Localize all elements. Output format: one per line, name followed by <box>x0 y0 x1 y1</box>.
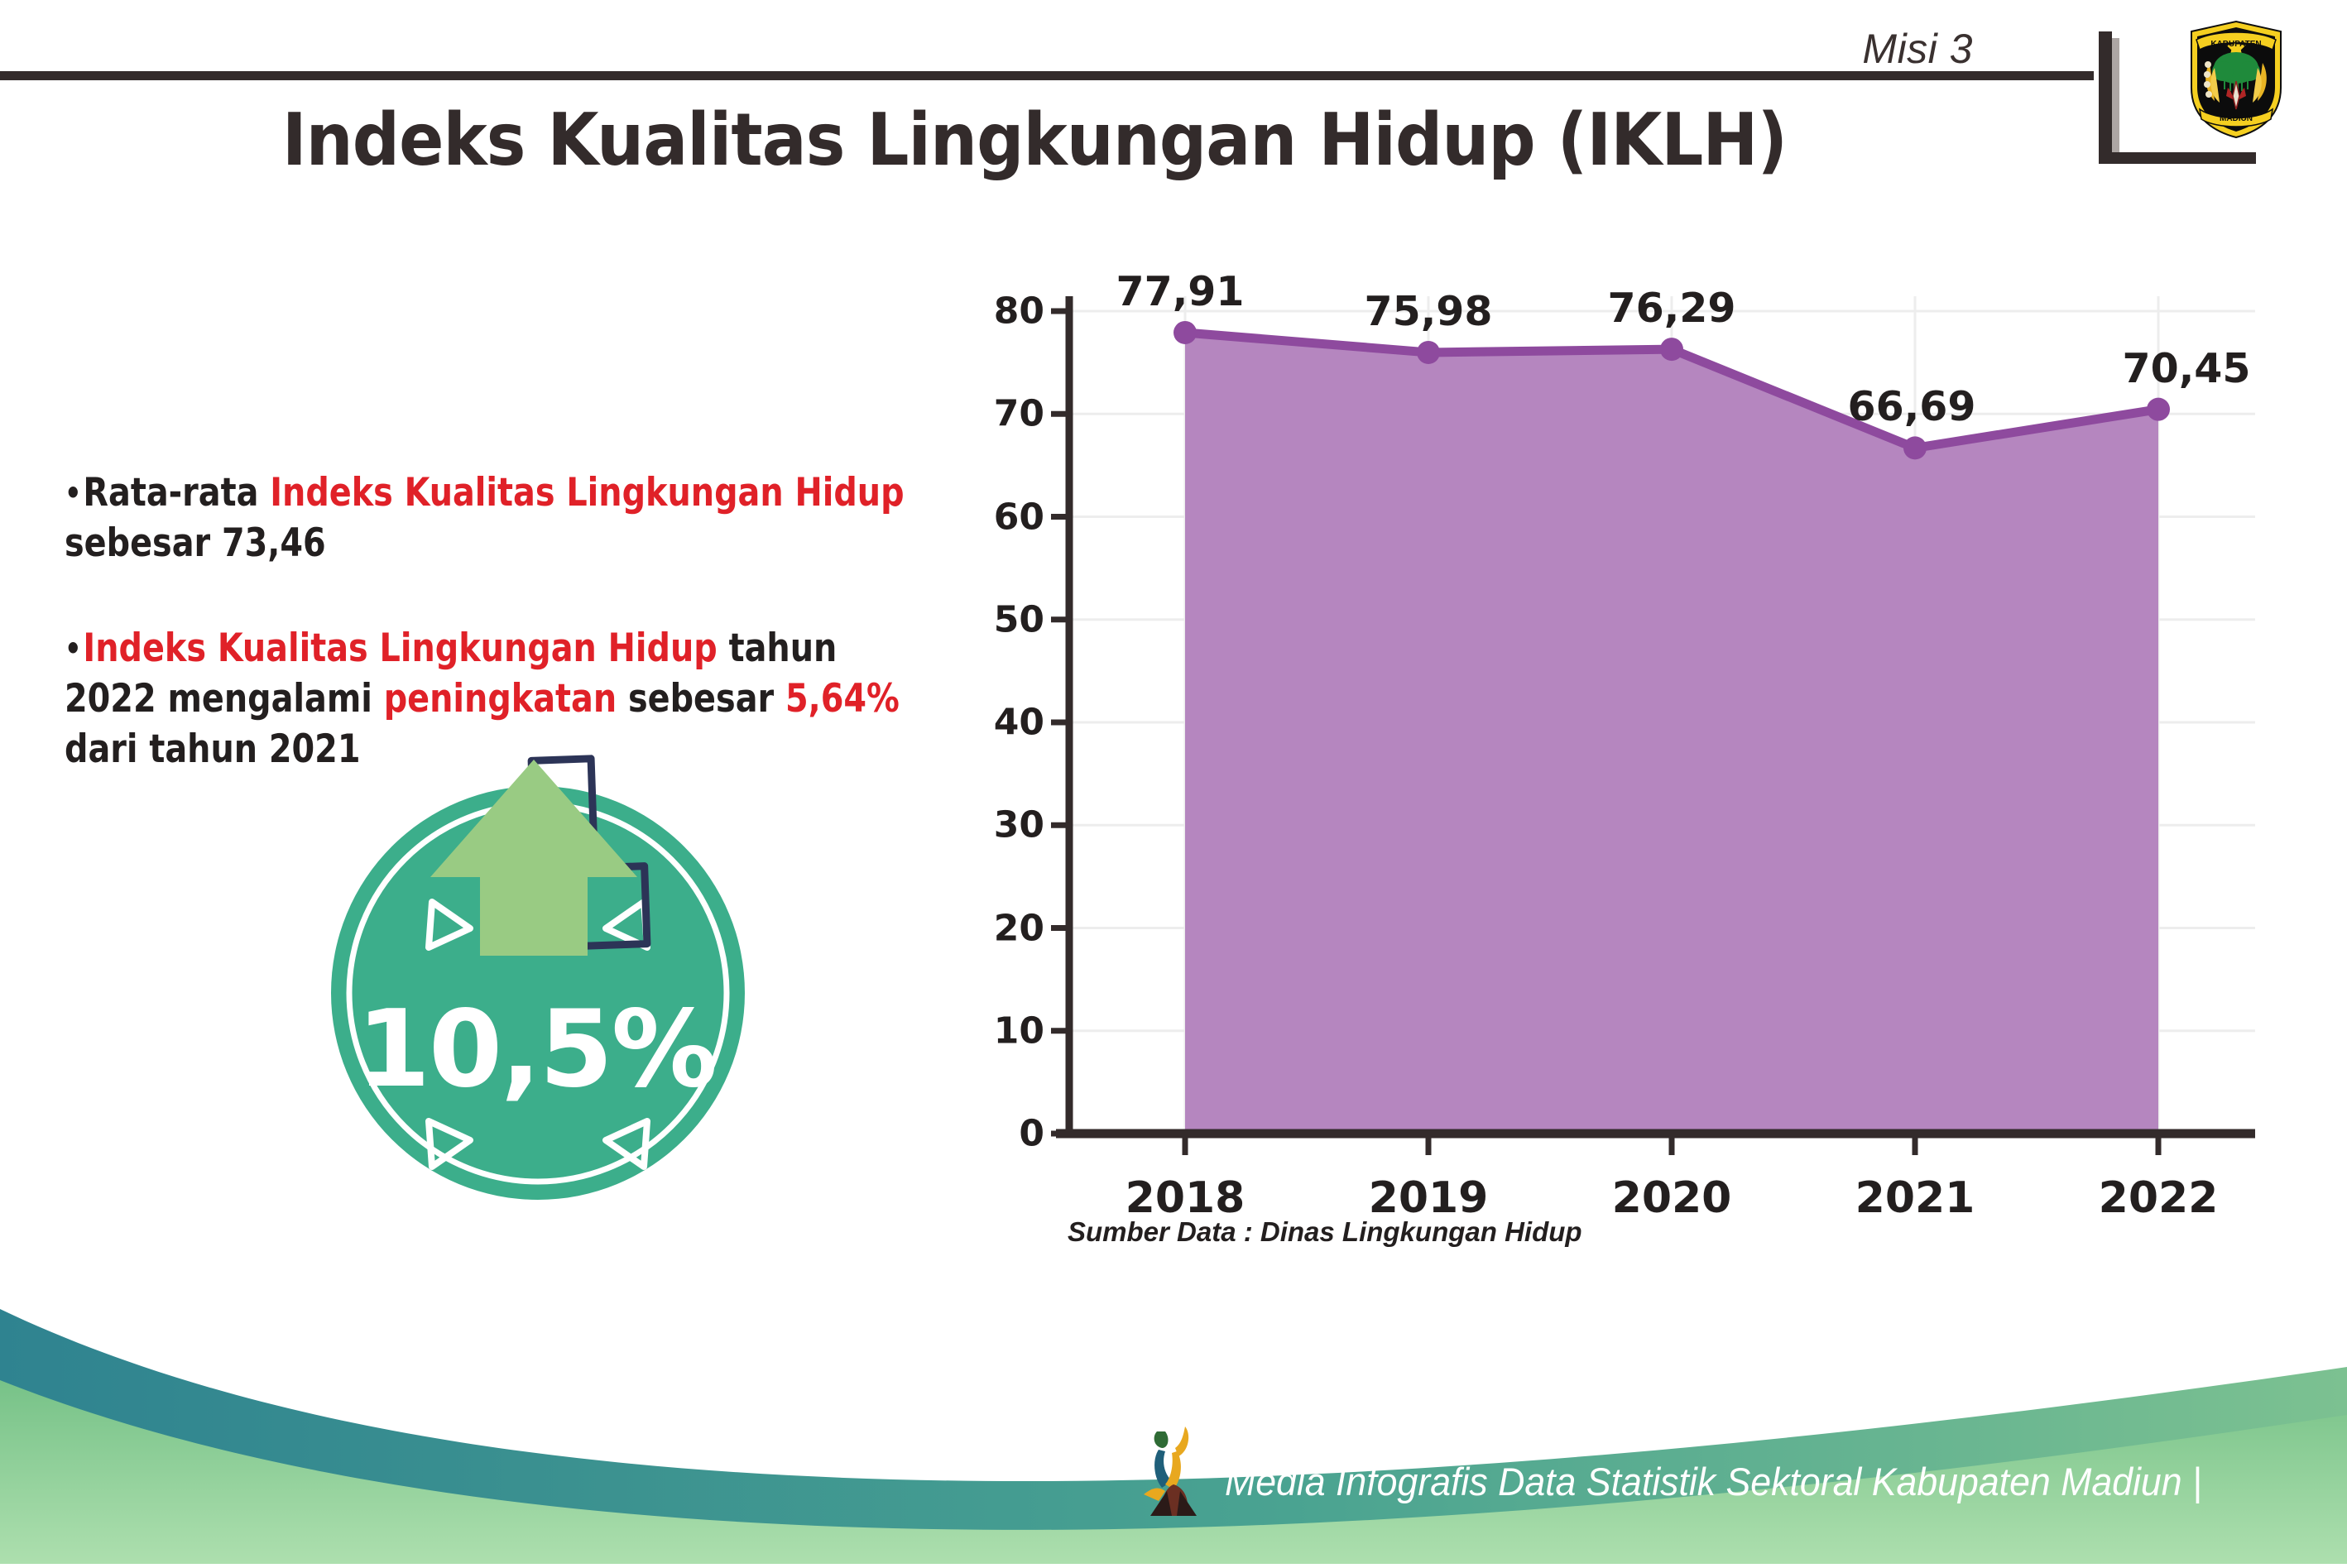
bullet-0-text-1: Rata-rata <box>83 470 270 515</box>
x-axis-tick-label: 2018 <box>1126 1173 1245 1223</box>
data-point-label: 76,29 <box>1608 285 1736 332</box>
bullet-1-highlight-3: 5,64% <box>785 676 900 722</box>
y-axis-tick-label: 10 <box>945 1009 1044 1052</box>
bullet-1-highlight-2: peningkatan <box>384 676 617 722</box>
bullet-list: •Rata-rata Indeks Kualitas Lingkungan Hi… <box>65 468 983 774</box>
x-axis-tick-label: 2019 <box>1369 1173 1489 1223</box>
page-title: Indeks Kualitas Lingkungan Hidup (IKLH) <box>83 98 1986 182</box>
bullet-1-highlight-1: Indeks Kualitas Lingkungan Hidup <box>83 626 717 671</box>
y-axis-tick-label: 0 <box>945 1113 1044 1155</box>
misi-label: Misi 3 <box>1862 25 1973 73</box>
media-infografis-logo-icon <box>1134 1415 1213 1524</box>
iklh-area-chart: 01020304050607080 20182019202020212022 7… <box>977 273 2268 1200</box>
x-axis-tick-label: 2022 <box>2099 1173 2219 1223</box>
kabupaten-madiun-emblem-icon: KABUPATEN MADIUN <box>2185 17 2287 141</box>
y-axis-tick-label: 70 <box>945 393 1044 435</box>
bullet-0-highlight: Indeks Kualitas Lingkungan Hidup <box>270 470 904 515</box>
header-divider-line <box>0 71 2094 80</box>
data-point-label: 77,91 <box>1116 268 1245 315</box>
bullet-item-average: •Rata-rata Indeks Kualitas Lingkungan Hi… <box>65 468 928 568</box>
increase-badge: 10,5% <box>323 745 753 1200</box>
y-axis-tick-label: 40 <box>945 702 1044 744</box>
y-axis-tick-label: 60 <box>945 496 1044 538</box>
y-axis-tick-label: 30 <box>945 804 1044 846</box>
chart-area-series <box>1185 333 2158 1134</box>
emblem-bottom-text: MADIUN <box>2220 114 2253 123</box>
emblem-top-text: KABUPATEN <box>2210 40 2261 49</box>
y-axis-tick-label: 80 <box>945 290 1044 333</box>
bullet-0-text-2: sebesar 73,46 <box>65 520 326 566</box>
bullet-1-text-2: sebesar <box>617 676 785 722</box>
data-point-label: 75,98 <box>1365 288 1493 335</box>
y-axis-tick-label: 50 <box>945 598 1044 640</box>
bullet-1-text-3: dari tahun 2021 <box>65 726 361 772</box>
bullet-marker: • <box>65 631 82 667</box>
x-axis-tick-label: 2020 <box>1612 1173 1732 1223</box>
y-axis-tick-label: 20 <box>945 907 1044 949</box>
data-point-label: 70,45 <box>2123 345 2251 392</box>
chart-source-caption: Sumber Data : Dinas Lingkungan Hidup <box>1068 1216 1582 1248</box>
data-point-label: 66,69 <box>1848 383 1976 430</box>
chart-canvas <box>977 273 2268 1200</box>
footer-caption: Media Infografis Data Statistik Sektoral… <box>1225 1459 2202 1504</box>
bullet-marker: • <box>65 475 82 511</box>
x-axis-tick-label: 2021 <box>1855 1173 1975 1223</box>
badge-value: 10,5% <box>357 988 716 1111</box>
